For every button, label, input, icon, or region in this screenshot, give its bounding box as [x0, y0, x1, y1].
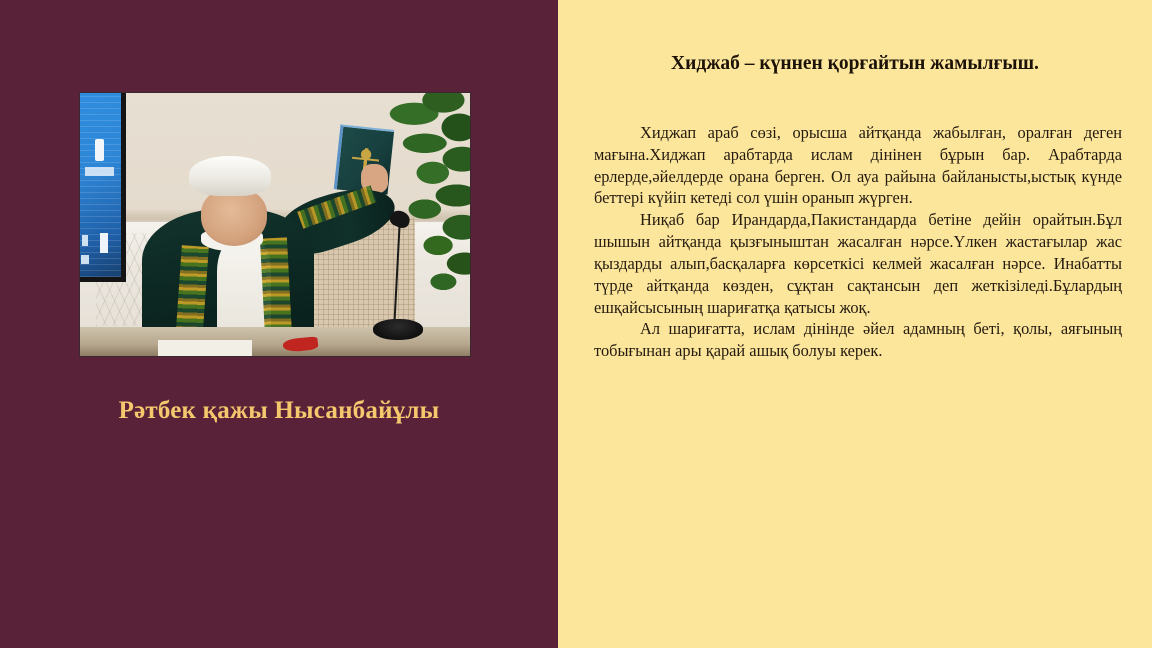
- monitor-icon-small-a: [82, 235, 89, 246]
- body-paragraph-3: Ал шариғатта, ислам дінінде әйел адамның…: [594, 318, 1122, 362]
- photo-turban: [189, 156, 271, 195]
- speaker-photo: [80, 93, 470, 356]
- photo-microphone-base: [373, 319, 424, 340]
- speaker-photo-frame: [80, 93, 470, 356]
- slide-title: Хиджаб – күннен қорғайтын жамылғыш.: [570, 52, 1140, 76]
- body-paragraph-2: Ниқаб бар Ирандарда,Пакистандарда бетіне…: [594, 209, 1122, 318]
- monitor-label: [85, 167, 114, 176]
- presentation-slide: Рәтбек қажы Нысанбайұлы Хиджаб – күннен …: [0, 0, 1152, 648]
- speaker-name-caption: Рәтбек қажы Нысанбайұлы: [0, 396, 558, 426]
- left-color-panel: Рәтбек қажы Нысанбайұлы: [0, 0, 558, 648]
- monitor-icon-small-c: [100, 233, 108, 253]
- photo-monitor-screen: [80, 93, 126, 282]
- monitor-icon: [95, 139, 104, 161]
- photo-paper: [158, 340, 252, 356]
- monitor-icon-small-b: [81, 255, 89, 264]
- photo-face: [201, 188, 267, 246]
- body-paragraph-1: Хиджап араб сөзі, орысша айтқанда жабылғ…: [594, 122, 1122, 209]
- slide-body-text: Хиджап араб сөзі, орысша айтқанда жабылғ…: [594, 122, 1122, 362]
